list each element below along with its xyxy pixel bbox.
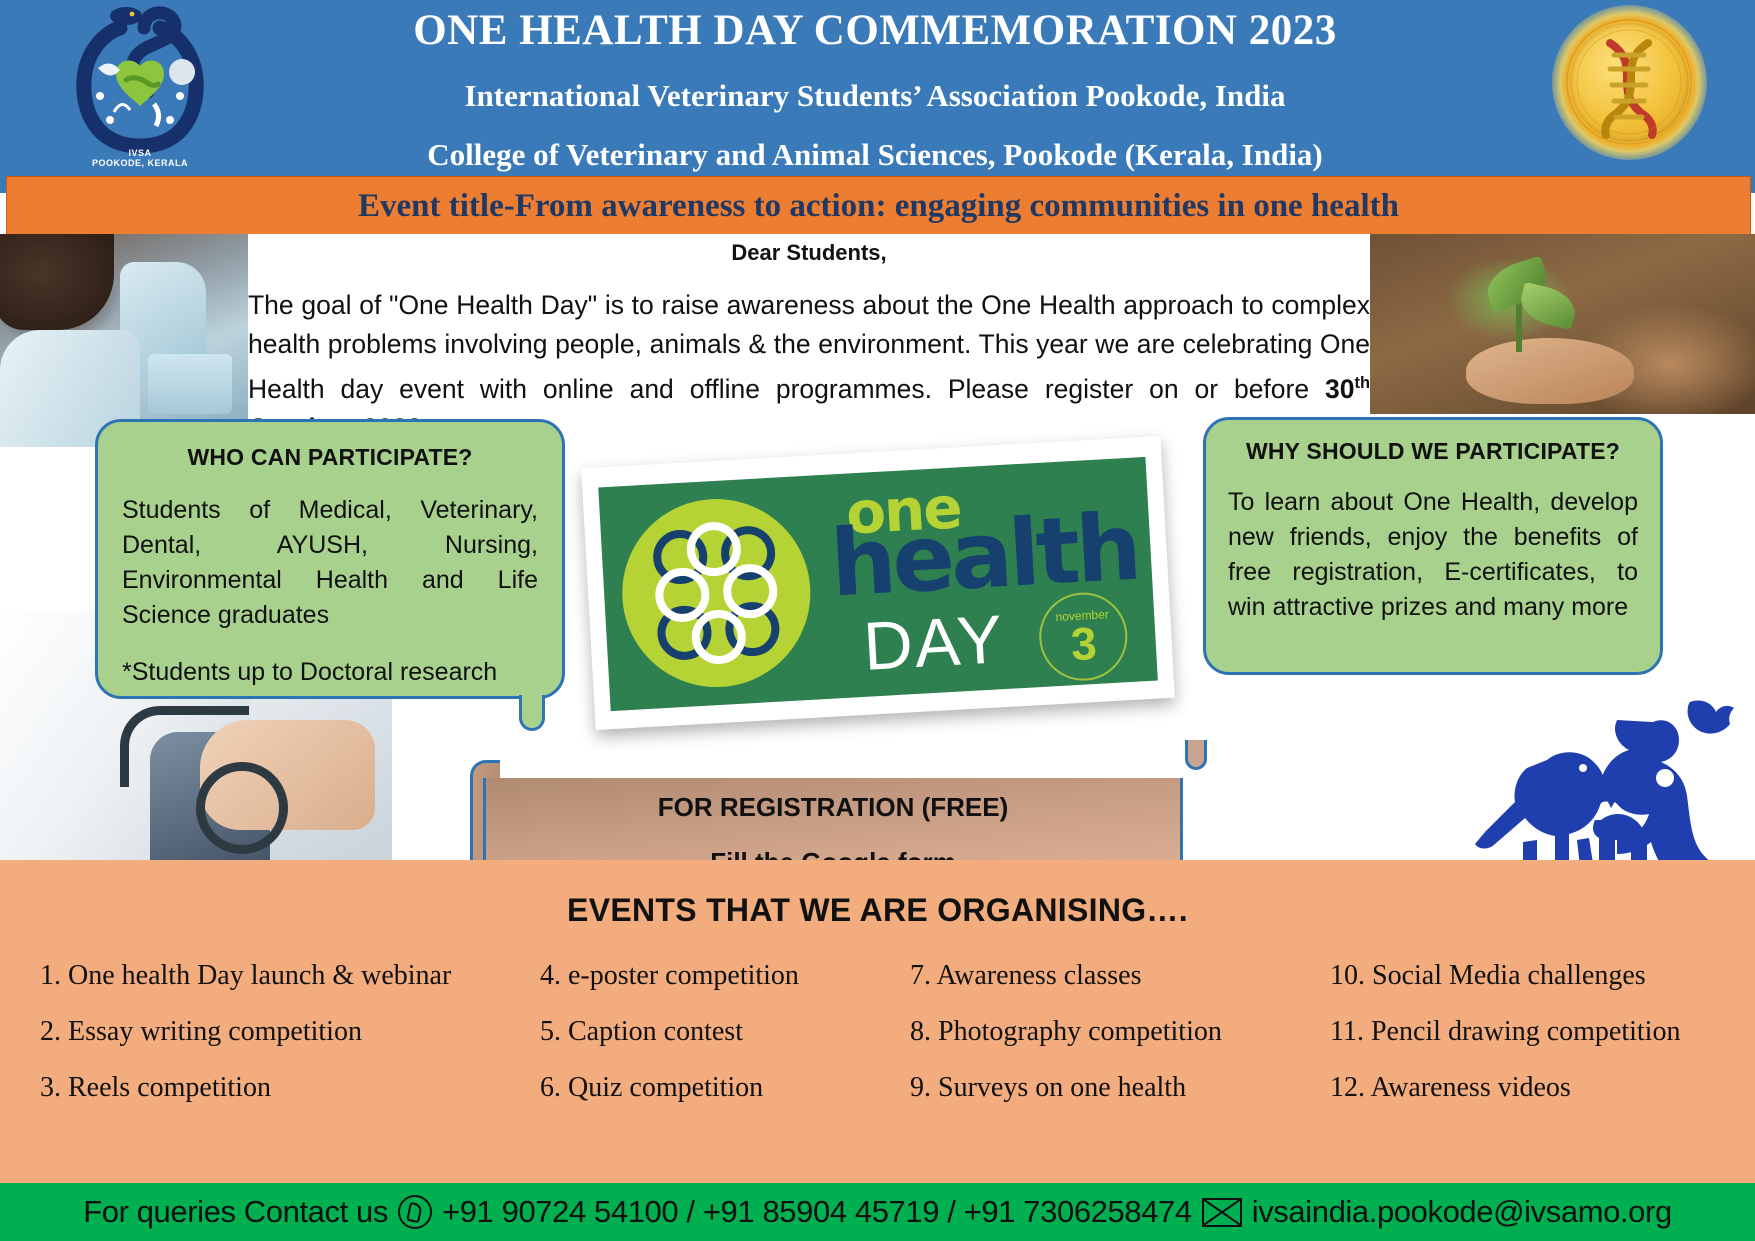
registration-heading: FOR REGISTRATION (FREE) — [486, 792, 1180, 823]
event-item: 4. e-poster competition — [540, 960, 910, 992]
letter-block: Dear Students, The goal of "One Health D… — [248, 240, 1370, 448]
phone-icon — [398, 1195, 432, 1229]
event-item: 5. Caption contest — [540, 1016, 910, 1048]
ohd-badge-day: 3 — [1040, 618, 1126, 669]
event-item: 2. Essay writing competition — [40, 1016, 540, 1048]
event-item: 11. Pencil drawing competition — [1330, 1016, 1720, 1048]
veterinarian-animals-illustration — [1415, 688, 1745, 884]
ivsa-caption-line2: POOKODE, KERALA — [92, 158, 188, 168]
why-participate-heading: WHY SHOULD WE PARTICIPATE? — [1228, 438, 1638, 465]
who-callout-tail — [519, 695, 545, 731]
envelope-icon — [1202, 1198, 1242, 1227]
events-section: EVENTS THAT WE ARE ORGANISING…. 1. One h… — [0, 860, 1755, 1183]
who-can-participate-body: Students of Medical, Veterinary, Dental,… — [122, 493, 538, 633]
event-item: 6. Quiz competition — [540, 1072, 910, 1104]
poster-title: ONE HEALTH DAY COMMEMORATION 2023 — [300, 6, 1450, 55]
event-item: 10. Social Media challenges — [1330, 960, 1720, 992]
contact-phones: +91 90724 54100 / +91 85904 45719 / +91 … — [442, 1194, 1192, 1230]
ivsa-caption-line1: IVSA — [128, 148, 151, 158]
lab-microscope-photo — [0, 234, 248, 447]
event-title-band: Event title-From awareness to action: en… — [6, 176, 1751, 236]
who-can-participate-heading: WHO CAN PARTICIPATE? — [122, 444, 538, 471]
event-item: 1. One health Day launch & webinar — [40, 960, 540, 992]
kvasu-seal-logo — [1552, 5, 1707, 165]
why-participate-callout: WHY SHOULD WE PARTICIPATE? To learn abou… — [1203, 417, 1663, 675]
poster-subtitle-college: College of Veterinary and Animal Science… — [300, 137, 1450, 173]
contact-footer: For queries Contact us +91 90724 54100 /… — [0, 1183, 1755, 1241]
who-can-participate-note: *Students up to Doctoral research — [122, 655, 538, 690]
dna-helix-icon — [1605, 43, 1652, 135]
poster-subtitle-association: International Veterinary Students’ Assoc… — [300, 78, 1450, 114]
event-item: 9. Surveys on one health — [910, 1072, 1330, 1104]
event-item: 8. Photography competition — [910, 1016, 1330, 1048]
event-item: 7. Awareness classes — [910, 960, 1330, 992]
ivsa-logo: IVSA POOKODE, KERALA — [70, 4, 210, 182]
event-item: 3. Reels competition — [40, 1072, 540, 1104]
seedling-planting-photo — [1370, 234, 1755, 414]
poster-header: IVSA POOKODE, KERALA ONE HEALTH DAY COMM… — [0, 0, 1755, 193]
events-grid: 1. One health Day launch & webinar 4. e-… — [40, 960, 1720, 1104]
ivsa-logo-caption: IVSA POOKODE, KERALA — [70, 148, 210, 168]
why-participate-body: To learn about One Health, develop new f… — [1228, 485, 1638, 625]
poster-root: IVSA POOKODE, KERALA ONE HEALTH DAY COMM… — [0, 0, 1755, 1241]
interlocking-rings-icon — [617, 494, 815, 692]
who-can-participate-callout: WHO CAN PARTICIPATE? Students of Medical… — [95, 419, 565, 699]
ohd-rings-circle — [617, 494, 815, 692]
one-health-day-logo-card: one health DAY november 3 — [581, 436, 1175, 730]
event-item: 12. Awareness videos — [1330, 1072, 1720, 1104]
event-title-text: Event title-From awareness to action: en… — [358, 188, 1399, 225]
ohd-word-day: DAY — [862, 605, 1006, 681]
letter-deadline-sup: th — [1355, 374, 1371, 392]
contact-footer-text: For queries Contact us +91 90724 54100 /… — [83, 1194, 1672, 1230]
events-heading: EVENTS THAT WE ARE ORGANISING…. — [0, 860, 1755, 929]
letter-greeting: Dear Students, — [248, 240, 1370, 266]
contact-label: For queries Contact us — [83, 1194, 388, 1230]
letter-body-text: The goal of "One Health Day" is to raise… — [248, 290, 1370, 404]
letter-deadline-day: 30 — [1325, 374, 1354, 404]
ohd-card-inner: one health DAY november 3 — [598, 457, 1158, 711]
why-callout-tail — [1185, 740, 1207, 770]
contact-email: ivsaindia.pookode@ivsamo.org — [1252, 1194, 1672, 1230]
